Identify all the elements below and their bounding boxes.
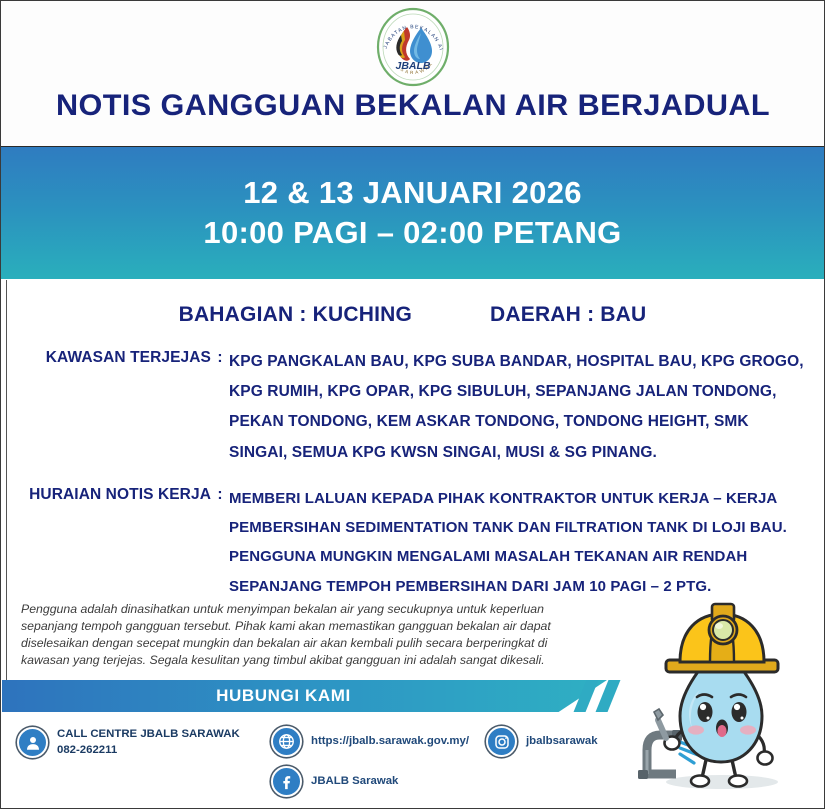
notice-poster: JABATAN BEKALAN AIR LUAR BANDAR SARAWAK … <box>0 0 825 809</box>
contact-bar: HUBUNGI KAMI <box>2 680 607 712</box>
contact-instagram[interactable]: jbalbsarawak <box>486 726 598 757</box>
globe-icon <box>271 726 302 757</box>
call-centre-text: CALL CENTRE JBALB SARAWAK 082-262211 <box>57 727 240 757</box>
work-description-field: HURAIAN NOTIS KERJA : MEMBERI LALUAN KEP… <box>1 484 824 601</box>
facebook-icon <box>271 766 302 797</box>
banner-time: 10:00 PAGI – 02:00 PETANG <box>203 216 621 251</box>
poster-header: JABATAN BEKALAN AIR LUAR BANDAR SARAWAK … <box>1 1 824 146</box>
work-description-label: HURAIAN NOTIS KERJA <box>19 484 211 504</box>
work-description-colon: : <box>211 484 229 504</box>
contact-list: CALL CENTRE JBALB SARAWAK 082-262211 htt… <box>1 719 825 809</box>
instagram-handle: jbalbsarawak <box>526 734 598 749</box>
region-row: BAHAGIAN : KUCHING DAERAH : BAU <box>1 279 824 331</box>
affected-areas-colon: : <box>211 347 229 367</box>
jbalb-logo-icon: JABATAN BEKALAN AIR LUAR BANDAR SARAWAK … <box>367 7 459 87</box>
contact-facebook[interactable]: JBALB Sarawak <box>271 766 398 797</box>
date-time-banner: 12 & 13 JANUARI 2026 10:00 PAGI – 02:00 … <box>1 146 824 279</box>
svg-text:JBALB: JBALB <box>395 60 430 72</box>
division-label: BAHAGIAN : KUCHING <box>179 303 412 327</box>
website-url: https://jbalb.sarawak.gov.my/ <box>311 734 469 749</box>
disclaimer-text: Pengguna adalah dinasihatkan untuk menyi… <box>21 601 595 669</box>
contact-bar-title: HUBUNGI KAMI <box>216 686 351 706</box>
contact-website[interactable]: https://jbalb.sarawak.gov.my/ <box>271 726 469 757</box>
affected-areas-field: KAWASAN TERJEJAS : KPG PANGKALAN BAU, KP… <box>1 347 824 468</box>
jbalb-logo: JABATAN BEKALAN AIR LUAR BANDAR SARAWAK … <box>367 7 459 87</box>
work-description-value: MEMBERI LALUAN KEPADA PIHAK KONTRAKTOR U… <box>229 484 809 601</box>
contact-bar-wrap: HUBUNGI KAMI <box>2 680 823 712</box>
district-label: DAERAH : BAU <box>490 303 646 327</box>
affected-areas-value: KPG PANGKALAN BAU, KPG SUBA BANDAR, HOSP… <box>229 347 809 468</box>
person-icon <box>17 727 48 758</box>
contact-call-centre[interactable]: CALL CENTRE JBALB SARAWAK 082-262211 <box>17 727 240 758</box>
affected-areas-label: KAWASAN TERJEJAS <box>19 347 211 367</box>
instagram-icon <box>486 726 517 757</box>
facebook-handle: JBALB Sarawak <box>311 774 398 789</box>
body-left-rule <box>6 280 7 680</box>
page-title: NOTIS GANGGUAN BEKALAN AIR BERJADUAL <box>56 91 770 121</box>
banner-date: 12 & 13 JANUARI 2026 <box>243 176 582 211</box>
